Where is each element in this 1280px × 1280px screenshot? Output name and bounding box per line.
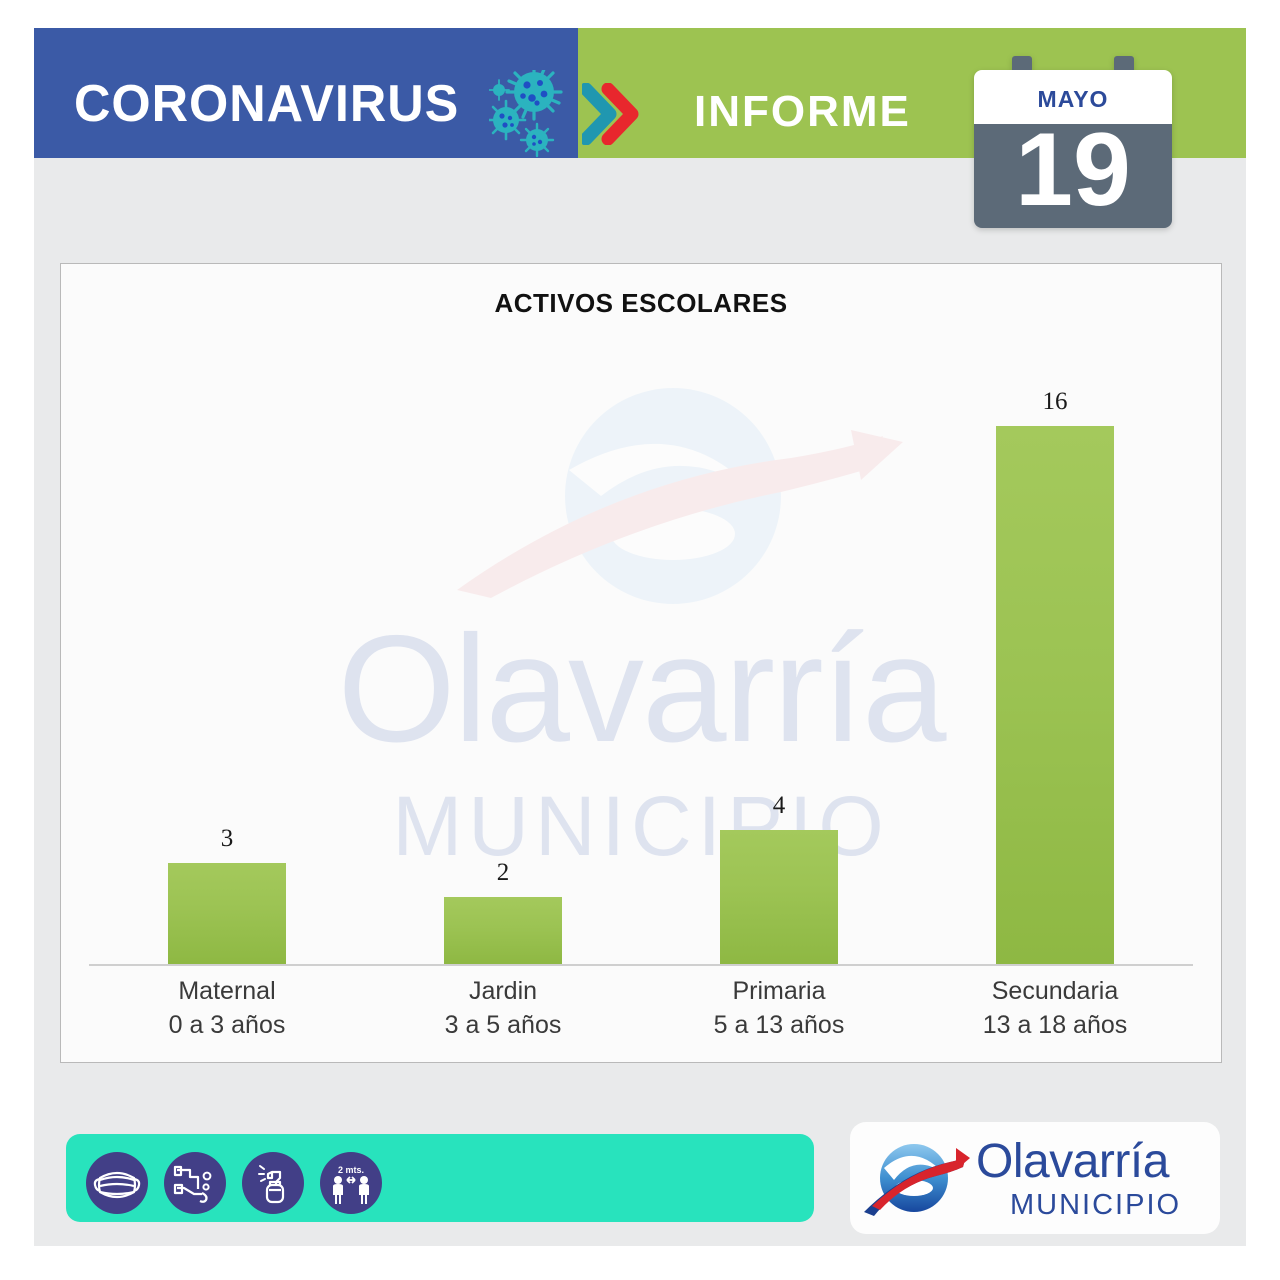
bar-value-label: 16 bbox=[1043, 388, 1068, 416]
bar-value-label: 4 bbox=[773, 792, 786, 820]
poster-root: CORONAVIRUS bbox=[0, 0, 1280, 1280]
x-axis-line bbox=[89, 964, 1193, 966]
svg-text:2 mts.: 2 mts. bbox=[338, 1165, 364, 1175]
logo-name: Olavarría bbox=[976, 1138, 1169, 1186]
category-age-range: 0 a 3 años bbox=[89, 1008, 365, 1042]
chart-panel: Olavarría MUNICIPIO ACTIVOS ESCOLARES 32… bbox=[60, 263, 1222, 1063]
category-label: Maternal0 a 3 años bbox=[89, 974, 365, 1042]
double-chevron-right-icon bbox=[582, 83, 646, 145]
hand-washing-icon bbox=[164, 1152, 226, 1214]
olavarria-logo-card: Olavarría MUNICIPIO bbox=[850, 1122, 1220, 1234]
header-title: CORONAVIRUS bbox=[74, 78, 459, 130]
bar-slot: 16 bbox=[917, 334, 1193, 964]
bar-value-label: 3 bbox=[221, 825, 234, 853]
category-name: Jardin bbox=[365, 974, 641, 1008]
category-label: Jardin3 a 5 años bbox=[365, 974, 641, 1042]
calendar-month: MAYO bbox=[974, 86, 1172, 113]
category-age-range: 3 a 5 años bbox=[365, 1008, 641, 1042]
bar-slot: 2 bbox=[365, 334, 641, 964]
face-mask-icon bbox=[86, 1152, 148, 1214]
header-subtitle: INFORME bbox=[694, 90, 911, 134]
calendar-badge: MAYO 19 bbox=[974, 56, 1172, 228]
footer: 2 mts. bbox=[60, 1122, 1220, 1232]
chart-title: ACTIVOS ESCOLARES bbox=[61, 288, 1221, 319]
bar-value-label: 2 bbox=[497, 859, 510, 887]
category-age-range: 5 a 13 años bbox=[641, 1008, 917, 1042]
prevention-bar: 2 mts. bbox=[66, 1134, 814, 1222]
virus-cluster-icon bbox=[489, 70, 579, 162]
bar-jardin bbox=[444, 897, 562, 964]
category-name: Primaria bbox=[641, 974, 917, 1008]
olavarria-swoosh-icon bbox=[864, 1136, 970, 1220]
bar-secundaria bbox=[996, 426, 1114, 964]
bar-primaria bbox=[720, 830, 838, 965]
category-label: Primaria5 a 13 años bbox=[641, 974, 917, 1042]
category-name: Secundaria bbox=[917, 974, 1193, 1008]
logo-subtitle: MUNICIPIO bbox=[1010, 1190, 1181, 1220]
bar-maternal bbox=[168, 863, 286, 964]
calendar-day: 19 bbox=[974, 118, 1172, 222]
spray-bottle-icon bbox=[242, 1152, 304, 1214]
category-age-range: 13 a 18 años bbox=[917, 1008, 1193, 1042]
category-labels: Maternal0 a 3 añosJardin3 a 5 añosPrimar… bbox=[89, 974, 1193, 1054]
category-label: Secundaria13 a 18 años bbox=[917, 974, 1193, 1042]
bar-slot: 4 bbox=[641, 334, 917, 964]
category-name: Maternal bbox=[89, 974, 365, 1008]
bar-slot: 3 bbox=[89, 334, 365, 964]
social-distance-icon: 2 mts. bbox=[320, 1152, 382, 1214]
plot-area: 32416 bbox=[89, 334, 1193, 964]
